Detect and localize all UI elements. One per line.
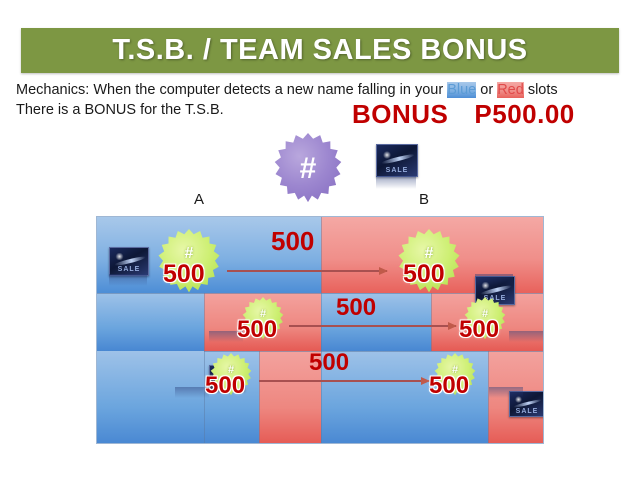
red-keyword: Red xyxy=(497,82,524,98)
cell-r2-blue-a xyxy=(97,293,204,351)
grid-vline-b xyxy=(431,293,432,351)
flow-amount-r1: 500 xyxy=(271,226,314,257)
sale-card-label: SALE xyxy=(377,167,417,174)
column-label-a: A xyxy=(194,191,204,208)
bonus-badge-value-r3-source: 500 xyxy=(205,372,245,400)
grid-vline-c xyxy=(259,351,260,444)
sale-card-reflection xyxy=(475,274,513,286)
bonus-badge-value-r2-source: 500 xyxy=(237,316,277,344)
bonus-amount: P500.00 xyxy=(474,99,574,129)
mechanics-line1-part-b: or xyxy=(476,82,497,98)
bonus-badge-value-r1-target: 500 xyxy=(403,260,445,289)
flow-arrow-r2 xyxy=(289,325,456,327)
page-title: T.S.B. / TEAM SALES BONUS xyxy=(21,28,619,73)
bonus-badge-value-r2-target: 500 xyxy=(459,316,499,344)
bonus-badge-value-r3-target: 500 xyxy=(429,372,469,400)
flow-amount-r2: 500 xyxy=(336,294,376,322)
column-label-b: B xyxy=(419,191,429,208)
sale-card-reflection xyxy=(175,387,209,398)
sale-card-reflection xyxy=(376,176,416,189)
bonus-label: BONUS xyxy=(352,99,448,129)
blue-keyword: Blue xyxy=(447,82,476,98)
flow-amount-r3: 500 xyxy=(309,349,349,377)
sale-card-reflection xyxy=(109,274,147,286)
grid-center-divider xyxy=(321,217,322,444)
hash-symbol: # xyxy=(272,133,344,205)
new-name-starburst-icon: # xyxy=(272,133,344,205)
sale-card-label: SALE xyxy=(110,266,148,273)
flow-arrow-r1 xyxy=(227,270,387,272)
mechanics-line1-part-a: Mechanics: When the computer detects a n… xyxy=(16,82,447,98)
slide-canvas: T.S.B. / TEAM SALES BONUS Mechanics: Whe… xyxy=(0,0,640,480)
sale-card-icon-top: SALE xyxy=(376,144,418,177)
grid-row-divider-2 xyxy=(204,351,544,352)
mechanics-line1-part-c: slots xyxy=(524,82,558,98)
bonus-badge-value-r1-source: 500 xyxy=(163,260,205,289)
sale-card-reflection xyxy=(509,331,543,342)
sale-card-r1-source: SALE xyxy=(109,247,149,276)
header-banner: T.S.B. / TEAM SALES BONUS xyxy=(21,28,619,73)
sale-card-reflection xyxy=(489,387,523,398)
bonus-callout: BONUSP500.00 xyxy=(352,99,575,130)
tsb-matrix-diagram: SALE # 500 500 # 500 SALE SALE # 500 500… xyxy=(96,216,544,444)
flow-arrow-r3 xyxy=(259,380,429,382)
grid-vline-a xyxy=(204,293,205,444)
mechanics-line-1: Mechanics: When the computer detects a n… xyxy=(16,80,628,100)
sale-card-label: SALE xyxy=(510,408,544,415)
